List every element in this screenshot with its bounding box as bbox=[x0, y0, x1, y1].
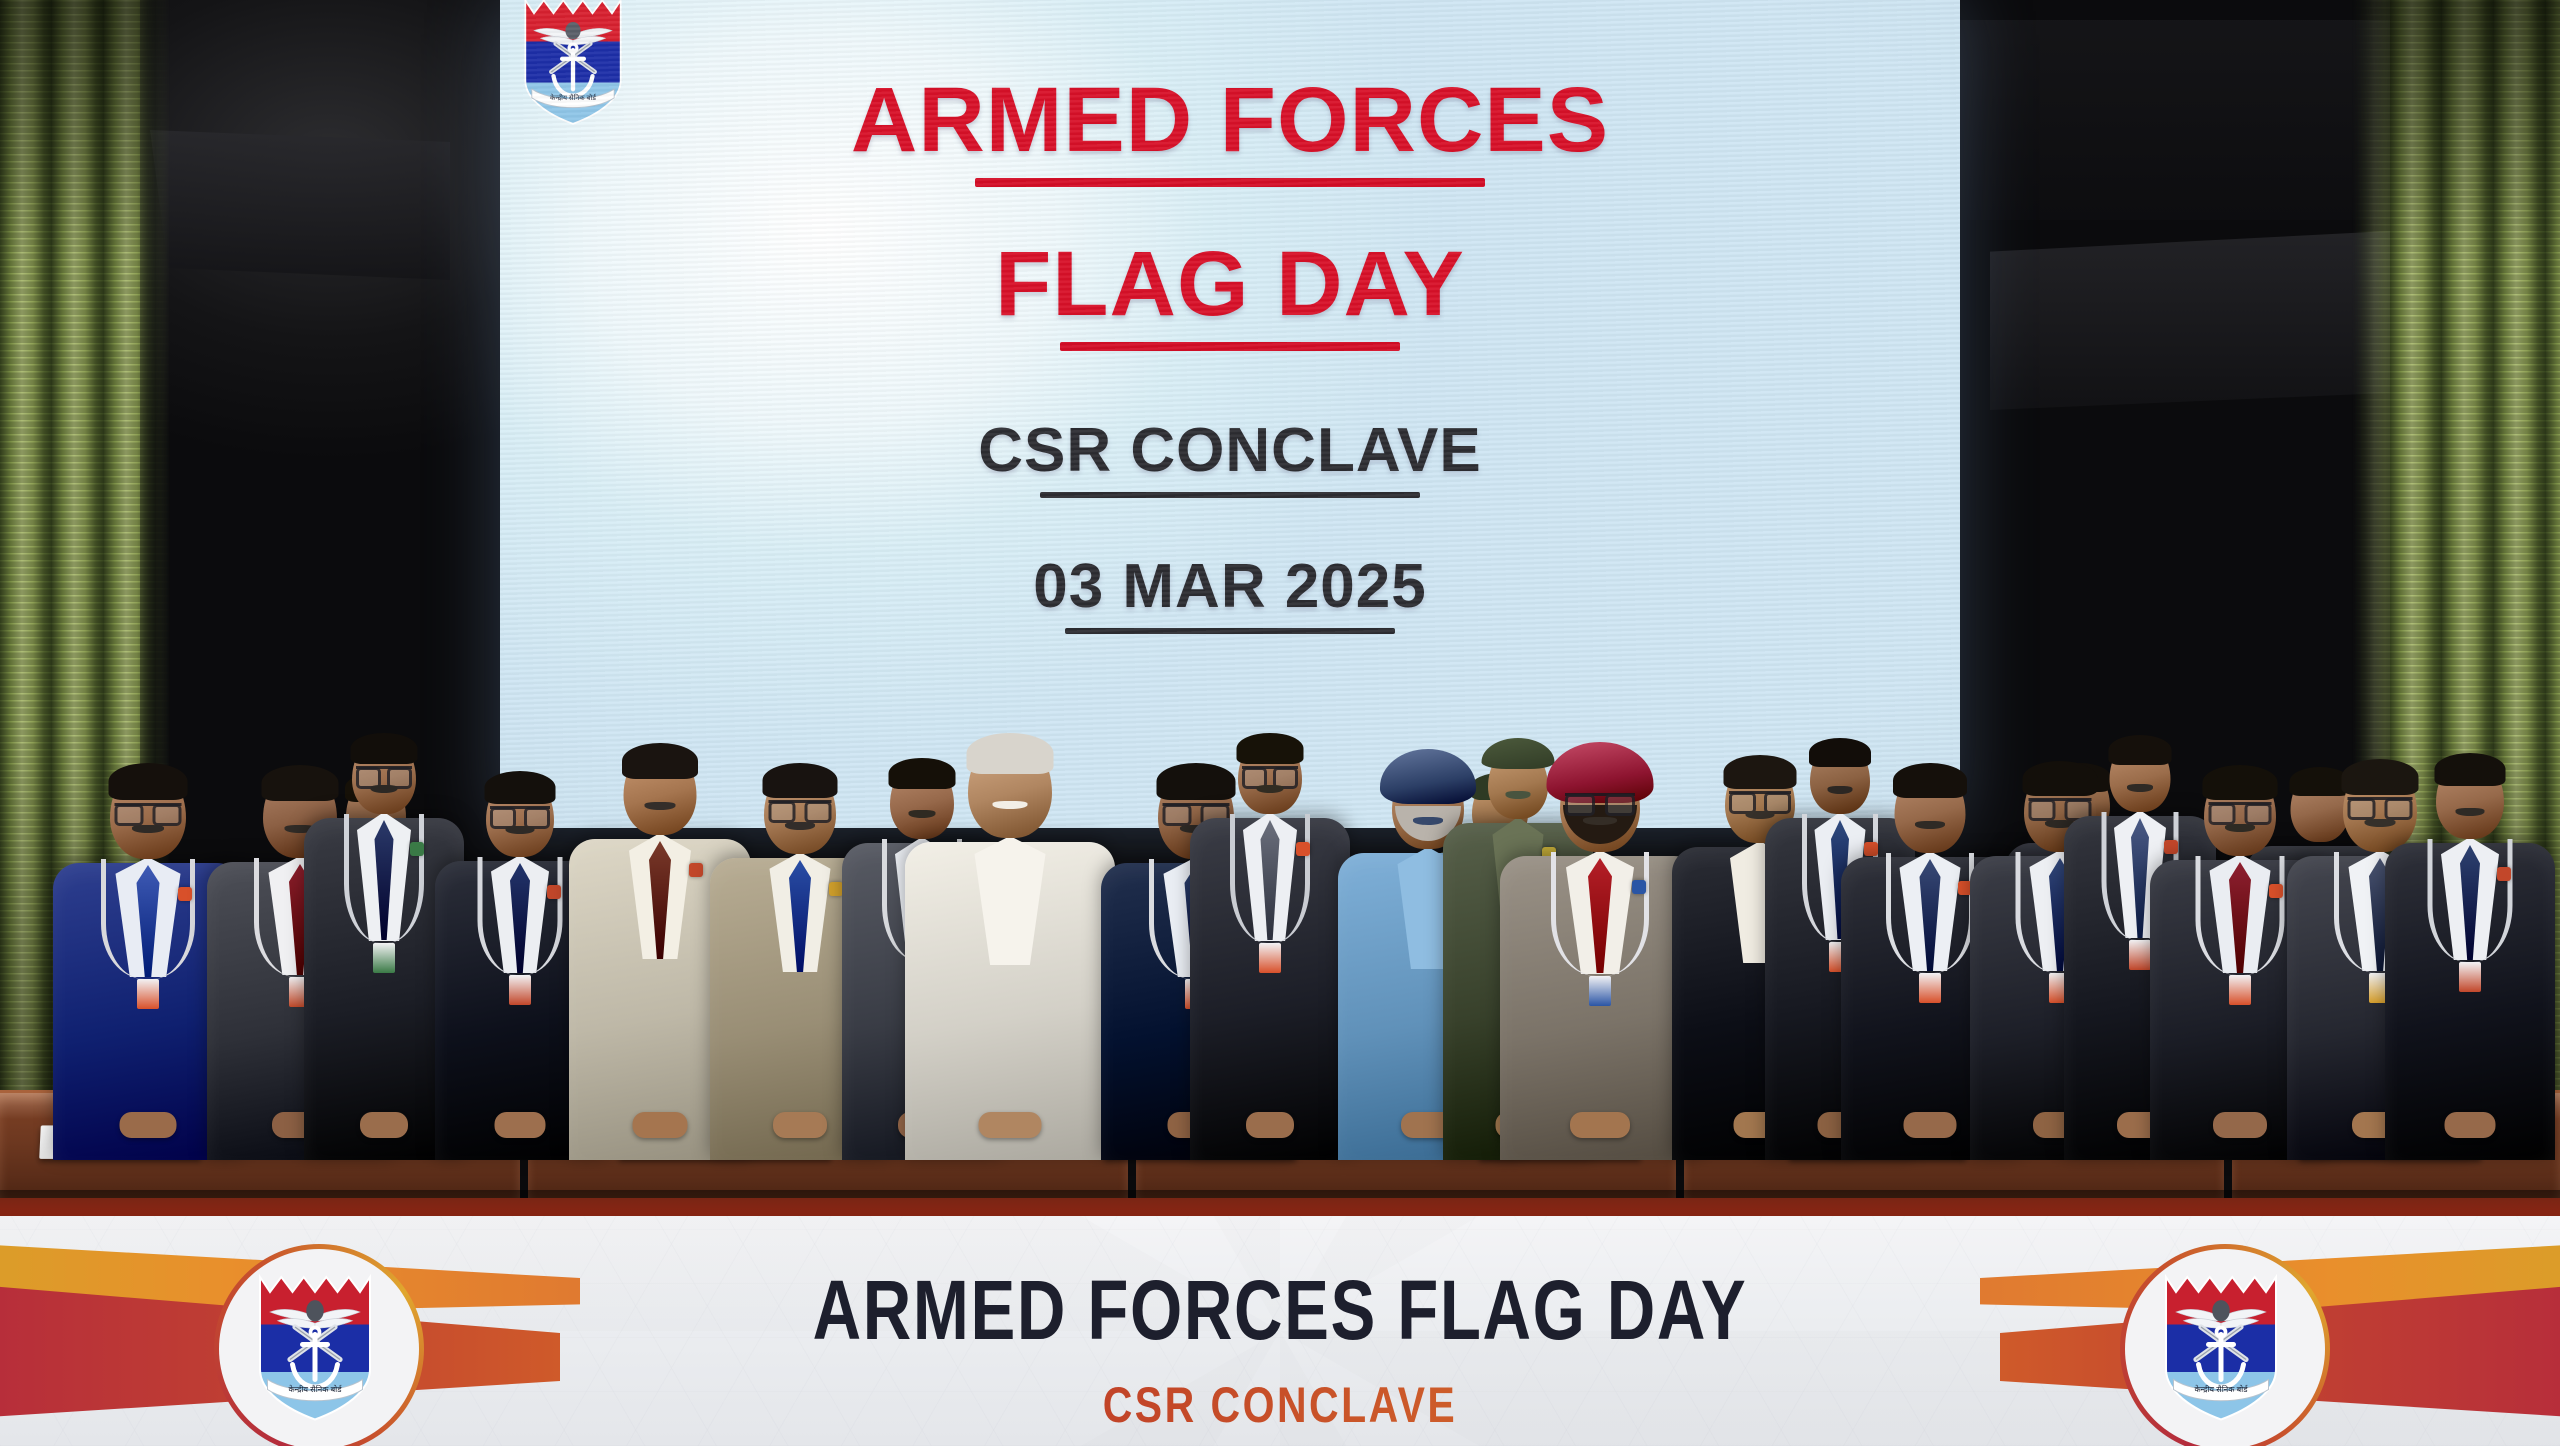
person-official-13 bbox=[1500, 748, 1700, 1160]
person-lapel-pin bbox=[689, 863, 703, 877]
person-hands bbox=[2213, 1112, 2267, 1138]
person-eyeglasses bbox=[490, 806, 550, 825]
person-official-21 bbox=[2385, 750, 2555, 1160]
slide-underline-2 bbox=[1060, 342, 1400, 351]
slide-underline-3 bbox=[1040, 492, 1420, 498]
stage-photograph: केन्द्रीय सैनिक बोर्ड ARMED FORCES FLAG … bbox=[0, 0, 2560, 1446]
slide-line-3: CSR CONCLAVE bbox=[978, 420, 1481, 482]
person-hair bbox=[763, 763, 838, 798]
slide-underline-1 bbox=[975, 178, 1485, 187]
person-moustache bbox=[1915, 821, 1945, 829]
person-id-badge bbox=[2459, 962, 2481, 992]
slide-title-flag-day: FLAG DAY bbox=[995, 233, 1465, 335]
person-eyeglasses bbox=[356, 766, 412, 785]
person-id-badge bbox=[1259, 943, 1281, 973]
person-hands bbox=[1570, 1112, 1630, 1138]
person-official-10 bbox=[1190, 730, 1350, 1160]
person-eyeglasses bbox=[769, 800, 832, 819]
person-hands bbox=[360, 1112, 408, 1138]
person-hair bbox=[1237, 733, 1304, 764]
person-eyeglasses bbox=[2209, 802, 2272, 821]
person-hair bbox=[967, 733, 1054, 774]
slide-title-armed-forces: ARMED FORCES bbox=[851, 69, 1609, 171]
person-lapel-pin bbox=[1632, 880, 1646, 894]
person-eyeglasses bbox=[115, 803, 182, 822]
person-lapel-pin bbox=[547, 885, 561, 899]
person-moustache bbox=[2225, 824, 2255, 832]
person-lanyard bbox=[1551, 852, 1649, 976]
wall-panel-left bbox=[150, 130, 450, 280]
person-lanyard bbox=[101, 859, 195, 979]
person-hair bbox=[2109, 735, 2172, 765]
person-hands bbox=[120, 1112, 177, 1138]
slide-subtitle-csr-conclave: CSR CONCLAVE bbox=[978, 416, 1481, 485]
slide-line-4: 03 MAR 2025 bbox=[1033, 556, 1427, 618]
banner-title: ARMED FORCES FLAG DAY bbox=[256, 1262, 2304, 1359]
person-id-badge bbox=[2229, 975, 2251, 1005]
banner-subtitle: CSR CONCLAVE bbox=[230, 1376, 2329, 1434]
person-id-badge bbox=[137, 979, 159, 1009]
person-eyeglasses bbox=[1565, 793, 1635, 812]
slide-date: 03 MAR 2025 bbox=[1033, 552, 1427, 621]
slide-line-2: FLAG DAY bbox=[995, 238, 1465, 330]
person-lapel-pin bbox=[1296, 842, 1310, 856]
person-lanyard bbox=[2196, 856, 2285, 975]
person-lapel-pin bbox=[410, 842, 424, 856]
person-lanyard bbox=[478, 857, 563, 975]
slide-line-1: ARMED FORCES bbox=[851, 74, 1609, 166]
person-hair bbox=[2203, 765, 2278, 800]
wall-panel-right-upper bbox=[1960, 20, 2390, 220]
slide-underline-4 bbox=[1065, 628, 1395, 634]
person-lanyard bbox=[2428, 839, 2513, 962]
person-lapel-pin bbox=[2497, 867, 2511, 881]
person-hands bbox=[633, 1112, 688, 1138]
person-lapel-pin bbox=[2269, 884, 2283, 898]
ksb-emblem-motto-screen: केन्द्रीय सैनिक बोर्ड bbox=[550, 93, 597, 102]
person-moustache bbox=[645, 802, 676, 810]
person-moustache bbox=[1257, 785, 1284, 793]
person-hair bbox=[485, 771, 556, 804]
person-moustache bbox=[993, 801, 1028, 809]
person-hands bbox=[773, 1112, 827, 1138]
person-moustache bbox=[506, 826, 535, 834]
person-moustache bbox=[132, 825, 164, 833]
person-hands bbox=[1246, 1112, 1294, 1138]
person-moustache bbox=[1583, 817, 1617, 825]
person-moustache bbox=[371, 785, 398, 793]
person-raksha-mantri bbox=[905, 730, 1115, 1160]
person-hair bbox=[109, 763, 188, 800]
person-hands bbox=[2445, 1112, 2496, 1138]
person-lapel-pin bbox=[829, 882, 843, 896]
person-lanyard bbox=[1886, 853, 1974, 973]
wall-panel-right bbox=[1990, 230, 2410, 410]
stage-front-banner: केन्द्रीय सैनिक बोर्ड bbox=[0, 1216, 2560, 1446]
ksb-emblem-screen: केन्द्रीय सैनिक बोर्ड bbox=[518, 0, 628, 126]
person-id-badge bbox=[1919, 973, 1941, 1003]
person-id-badge bbox=[509, 975, 531, 1005]
person-id-badge bbox=[373, 943, 395, 973]
person-moustache bbox=[785, 822, 815, 830]
person-hair bbox=[1893, 763, 1967, 798]
person-lapel-pin bbox=[178, 887, 192, 901]
person-id-badge bbox=[1589, 976, 1611, 1006]
person-eyeglasses bbox=[1242, 766, 1298, 785]
person-hair bbox=[2435, 753, 2506, 786]
person-hair bbox=[351, 733, 418, 764]
person-hands bbox=[979, 1112, 1042, 1138]
person-hands bbox=[1904, 1112, 1957, 1138]
person-hands bbox=[495, 1112, 546, 1138]
person-hair bbox=[622, 743, 698, 779]
person-id-badge bbox=[2129, 940, 2151, 970]
person-lanyard bbox=[344, 814, 424, 943]
person-moustache bbox=[1413, 817, 1443, 825]
person-moustache bbox=[2456, 808, 2485, 816]
person-lanyard bbox=[1230, 814, 1310, 943]
dignitaries-group bbox=[0, 690, 2560, 1160]
